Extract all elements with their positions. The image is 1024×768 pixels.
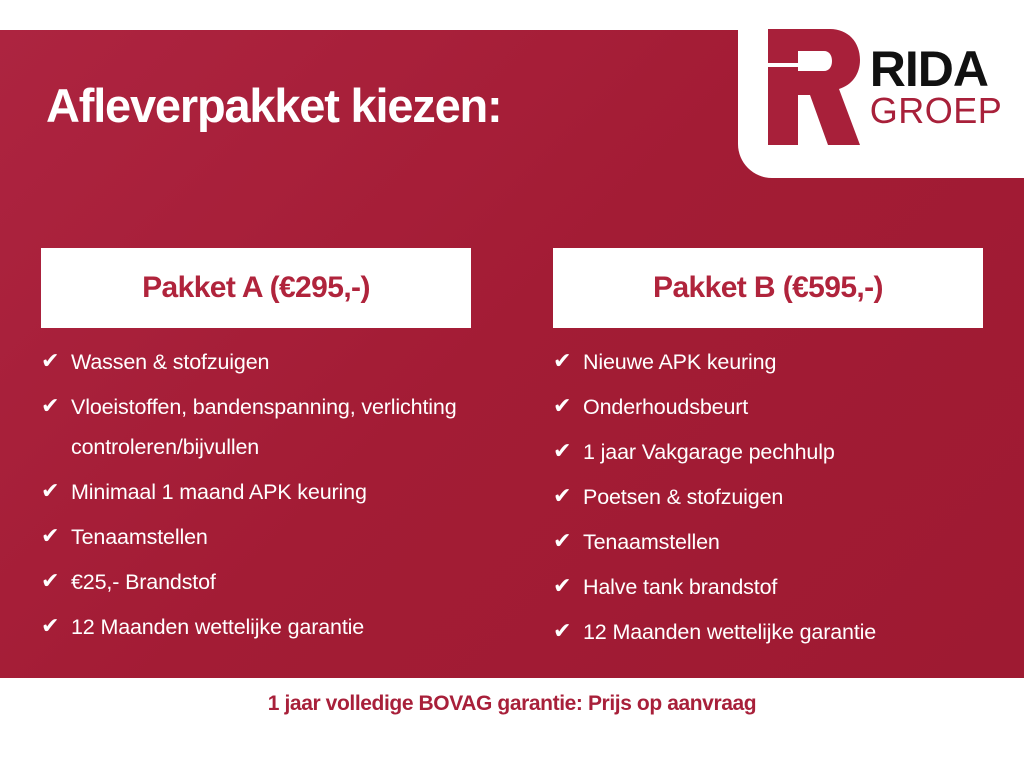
logo-secondary-text: GROEP xyxy=(870,94,1003,127)
package-a-title: Pakket A (€295,-) xyxy=(142,271,370,305)
list-item-label: 1 jaar Vakgarage pechhulp xyxy=(583,432,835,472)
check-icon: ✔ xyxy=(553,477,583,517)
list-item: ✔ 12 Maanden wettelijke garantie xyxy=(41,607,471,647)
check-icon: ✔ xyxy=(553,387,583,427)
slide-root: RIDA GROEP Afleverpakket kiezen: Pakket … xyxy=(0,0,1024,768)
package-b-feature-list: ✔ Nieuwe APK keuring ✔ Onderhoudsbeurt ✔… xyxy=(553,342,983,652)
list-item-label: Tenaamstellen xyxy=(71,517,208,557)
list-item-label: Onderhoudsbeurt xyxy=(583,387,748,427)
list-item: ✔ Poetsen & stofzuigen xyxy=(553,477,983,517)
list-item-label: Halve tank brandstof xyxy=(583,567,777,607)
check-icon: ✔ xyxy=(41,387,71,427)
list-item: ✔ Wassen & stofzuigen xyxy=(41,342,471,382)
list-item: ✔ Onderhoudsbeurt xyxy=(553,387,983,427)
check-icon: ✔ xyxy=(41,562,71,602)
list-item-label: Poetsen & stofzuigen xyxy=(583,477,783,517)
list-item-label: Minimaal 1 maand APK keuring xyxy=(71,472,367,512)
check-icon: ✔ xyxy=(553,432,583,472)
list-item: ✔ 1 jaar Vakgarage pechhulp xyxy=(553,432,983,472)
package-column-a: Pakket A (€295,-) ✔ Wassen & stofzuigen … xyxy=(0,248,512,657)
list-item-label: Vloeistoffen, bandenspanning, verlichtin… xyxy=(71,387,471,467)
package-column-b: Pakket B (€595,-) ✔ Nieuwe APK keuring ✔… xyxy=(512,248,1024,657)
logo: RIDA GROEP xyxy=(768,29,1003,145)
check-icon: ✔ xyxy=(41,607,71,647)
logo-plate: RIDA GROEP xyxy=(738,0,1024,178)
footer-banner: 1 jaar volledige BOVAG garantie: Prijs o… xyxy=(0,678,1024,768)
check-icon: ✔ xyxy=(553,522,583,562)
check-icon: ✔ xyxy=(41,472,71,512)
page-title: Afleverpakket kiezen: xyxy=(46,78,501,133)
footer-text: 1 jaar volledige BOVAG garantie: Prijs o… xyxy=(268,692,756,716)
list-item: ✔ €25,- Brandstof xyxy=(41,562,471,602)
list-item: ✔ Tenaamstellen xyxy=(41,517,471,557)
check-icon: ✔ xyxy=(41,342,71,382)
list-item: ✔ Minimaal 1 maand APK keuring xyxy=(41,472,471,512)
check-icon: ✔ xyxy=(41,517,71,557)
list-item-label: 12 Maanden wettelijke garantie xyxy=(583,612,876,652)
list-item-label: Nieuwe APK keuring xyxy=(583,342,776,382)
check-icon: ✔ xyxy=(553,612,583,652)
package-b-title: Pakket B (€595,-) xyxy=(653,271,883,305)
package-b-header: Pakket B (€595,-) xyxy=(553,248,983,328)
logo-primary-text: RIDA xyxy=(870,46,1003,92)
check-icon: ✔ xyxy=(553,567,583,607)
list-item-label: 12 Maanden wettelijke garantie xyxy=(71,607,364,647)
list-item-label: Tenaamstellen xyxy=(583,522,720,562)
list-item-label: Wassen & stofzuigen xyxy=(71,342,269,382)
list-item: ✔ Nieuwe APK keuring xyxy=(553,342,983,382)
package-a-feature-list: ✔ Wassen & stofzuigen ✔ Vloeistoffen, ba… xyxy=(41,342,471,647)
packages-container: Pakket A (€295,-) ✔ Wassen & stofzuigen … xyxy=(0,248,1024,657)
list-item: ✔ Halve tank brandstof xyxy=(553,567,983,607)
check-icon: ✔ xyxy=(553,342,583,382)
list-item: ✔ Vloeistoffen, bandenspanning, verlicht… xyxy=(41,387,471,467)
list-item: ✔ 12 Maanden wettelijke garantie xyxy=(553,612,983,652)
package-a-header: Pakket A (€295,-) xyxy=(41,248,471,328)
list-item: ✔ Tenaamstellen xyxy=(553,522,983,562)
list-item-label: €25,- Brandstof xyxy=(71,562,216,602)
logo-wordmark: RIDA GROEP xyxy=(870,46,1003,127)
rida-r-monogram-icon xyxy=(768,29,860,145)
